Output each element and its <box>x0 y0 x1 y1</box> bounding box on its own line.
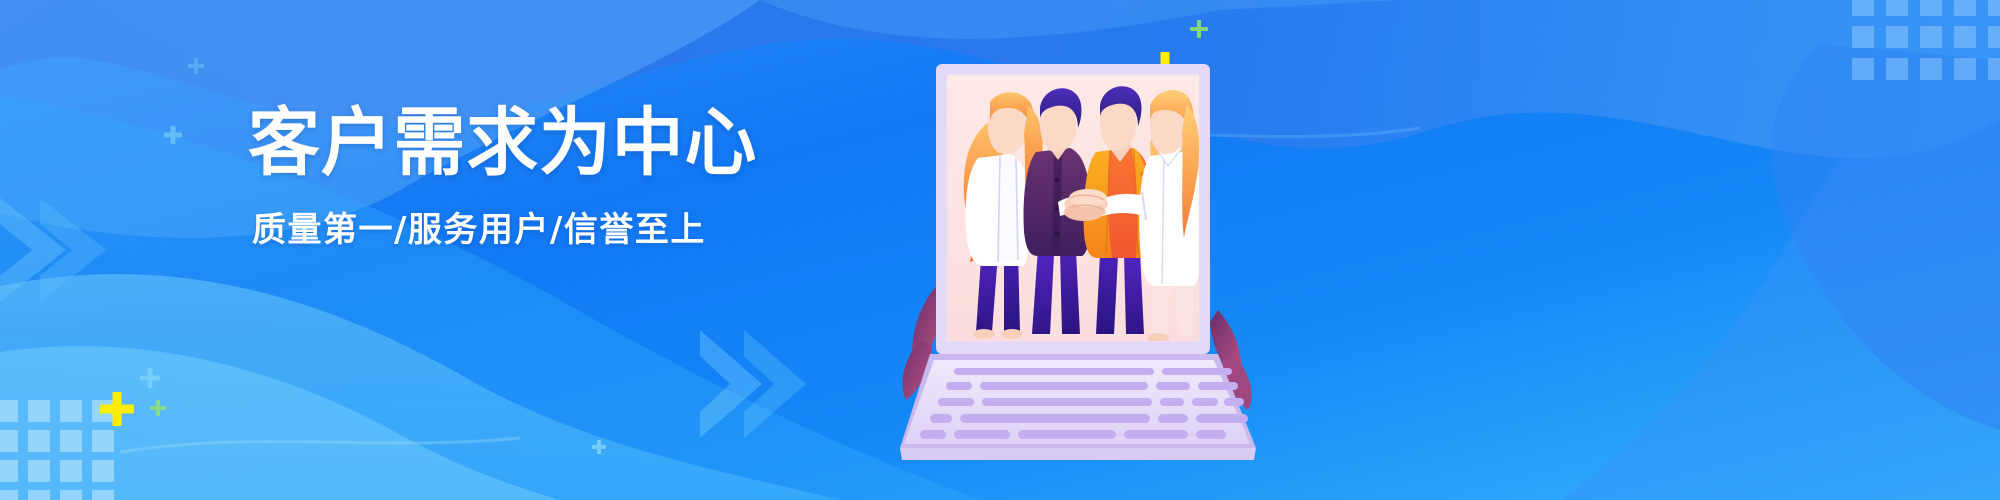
page-title: 客户需求为中心 <box>248 104 791 182</box>
plus-icon-bottom-faint <box>140 368 160 388</box>
plus-icon-center-bottom <box>592 440 606 454</box>
plus-icon-bottom-small <box>150 400 166 416</box>
laptop-keyboard <box>900 354 1256 460</box>
square-grid-top-right <box>1852 0 2000 86</box>
plus-icon-left-mid <box>164 126 182 144</box>
headline-block: 客户需求为中心 质量第一/服务用户/信誉至上 <box>248 104 808 250</box>
promo-banner: 客户需求为中心 质量第一/服务用户/信誉至上 <box>0 0 2000 500</box>
plus-icon-bottom-large <box>100 392 134 426</box>
plus-icon-top-small <box>1190 20 1208 38</box>
laptop-team-illustration <box>900 48 1320 468</box>
page-subtitle: 质量第一/服务用户/信誉至上 <box>252 210 808 250</box>
plus-icon-left-tiny <box>188 58 204 74</box>
laptop-screen <box>936 64 1210 354</box>
